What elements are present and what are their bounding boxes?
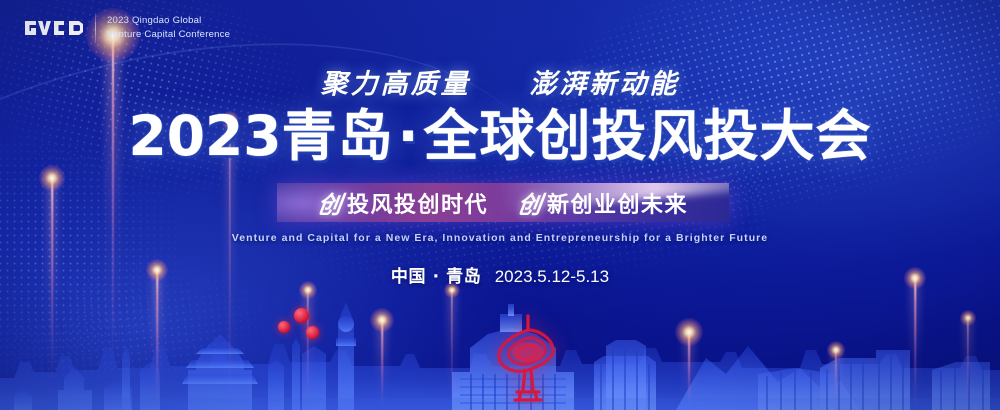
page-title: 2023青岛·全球创投风投大会	[0, 104, 1000, 168]
brush-char-chuang-2: 创	[516, 185, 545, 220]
title-rest: 全球创投风投大会	[423, 104, 871, 168]
dateline-date: 2023.5.12-5.13	[495, 267, 609, 286]
header-subtitle: 2023 Qingdao Global Venture Capital Conf…	[107, 14, 230, 42]
may-wind-sculpture-icon	[489, 312, 567, 408]
brush-char-chuang-1: 创	[316, 185, 345, 220]
ribbon-phrase-1: 创 投风投创时代	[318, 185, 488, 220]
ribbon-phrase-2: 创 新创业创未来	[518, 185, 688, 220]
header-logo-block: 2023 Qingdao Global Venture Capital Conf…	[24, 13, 230, 43]
title-city: 青岛	[282, 104, 394, 168]
gvcc-wordmark-icon	[24, 17, 84, 39]
slogan-right: 澎湃新动能	[529, 69, 679, 100]
calligraphy-slogan: 聚力高质量 澎湃新动能	[0, 62, 1000, 101]
title-separator: ·	[394, 104, 424, 168]
subtitle-ribbon: 创 投风投创时代 创 新创业创未来	[277, 183, 729, 222]
ribbon-phrase-2-text: 新创业创未来	[547, 187, 688, 219]
slogan-left: 聚力高质量	[321, 69, 471, 100]
conference-poster: 2023 Qingdao Global Venture Capital Conf…	[0, 0, 1000, 410]
dateline-place: 中国 · 青岛	[391, 267, 482, 287]
ribbon-phrase-1-text: 投风投创时代	[347, 187, 488, 219]
english-tagline: Venture and Capital for a New Era, Innov…	[0, 232, 1000, 244]
vertical-divider-icon	[95, 13, 96, 43]
red-lantern-cluster-icon	[278, 308, 322, 352]
dateline: 中国 · 青岛 2023.5.12-5.13	[0, 262, 1000, 287]
header-subtitle-line1: 2023 Qingdao Global	[107, 14, 230, 28]
title-year: 2023	[128, 104, 281, 168]
header-subtitle-line2: Venture Capital Conference	[107, 28, 230, 42]
